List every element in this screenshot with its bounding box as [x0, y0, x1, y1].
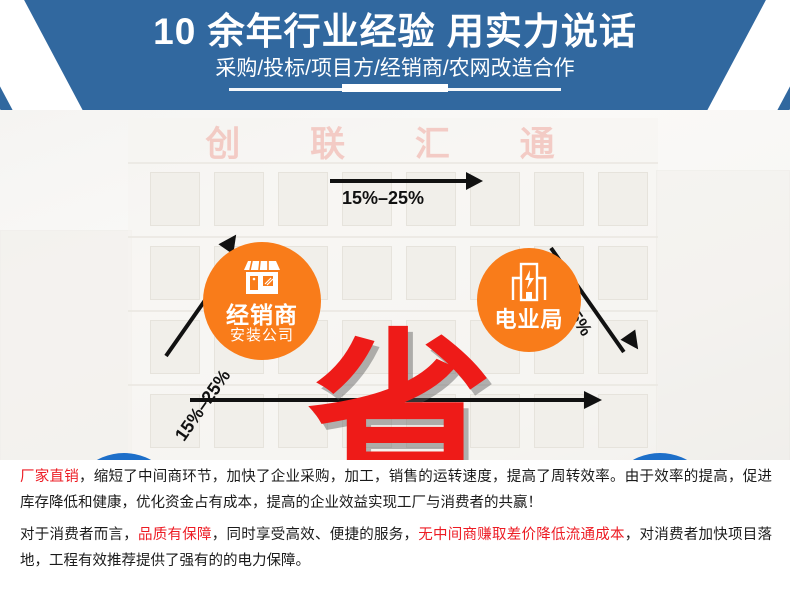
footer-paragraph-1: 厂家直销，缩短了中间商环节，加快了企业采购，加工，销售的运转速度，提高了周转效率… [20, 464, 772, 516]
footer-highlight-3: 无中间商赚取差价降低流通成本 [418, 527, 625, 543]
header-divider-accent [342, 84, 448, 92]
header-title: 10 余年行业经验 用实力说话 [0, 10, 790, 54]
node-dealer[interactable]: 经销商 安装公司 [203, 242, 321, 360]
node-power-bureau-label: 电业局 [477, 302, 581, 334]
arrow-label-dealer-power: 15%–25% [342, 188, 424, 209]
diagram-stage: 创 联 汇 通 15%–25% 15%–25% 15%–25% 在这里省了中间环… [0, 110, 790, 460]
header-subtitle: 采购/投标/项目方/经销商/农网改造合作 [0, 56, 790, 82]
footer-paragraph-2: 对于消费者而言，品质有保障，同时享受高效、便捷的服务，无中间商赚取差价降低流通成… [20, 522, 772, 574]
footer-description: 厂家直销，缩短了中间商环节，加快了企业采购，加工，销售的运转速度，提高了周转效率… [0, 460, 790, 600]
footer-highlight-2: 品质有保障 [138, 527, 212, 543]
brand-watermark: 创 联 汇 通 [0, 116, 790, 167]
storefront-icon [203, 258, 321, 301]
center-save-character: 省 [300, 328, 500, 460]
node-power-bureau[interactable]: 电业局 [477, 248, 581, 352]
node-dealer-sublabel: 安装公司 [203, 324, 321, 345]
footer-paragraph-1-rest: ，缩短了中间商环节，加快了企业采购，加工，销售的运转速度，提高了周转效率。由于效… [20, 469, 772, 511]
promo-banner-page: 10 余年行业经验 用实力说话 采购/投标/项目方/经销商/农网改造合作 [0, 0, 790, 600]
footer-paragraph-2-middle: ，同时享受高效、便捷的服务， [212, 527, 419, 543]
footer-highlight-1: 厂家直销 [20, 469, 79, 485]
power-building-icon [477, 262, 581, 307]
footer-paragraph-2-lead: 对于消费者而言， [20, 527, 138, 543]
header-banner: 10 余年行业经验 用实力说话 采购/投标/项目方/经销商/农网改造合作 [0, 0, 790, 110]
